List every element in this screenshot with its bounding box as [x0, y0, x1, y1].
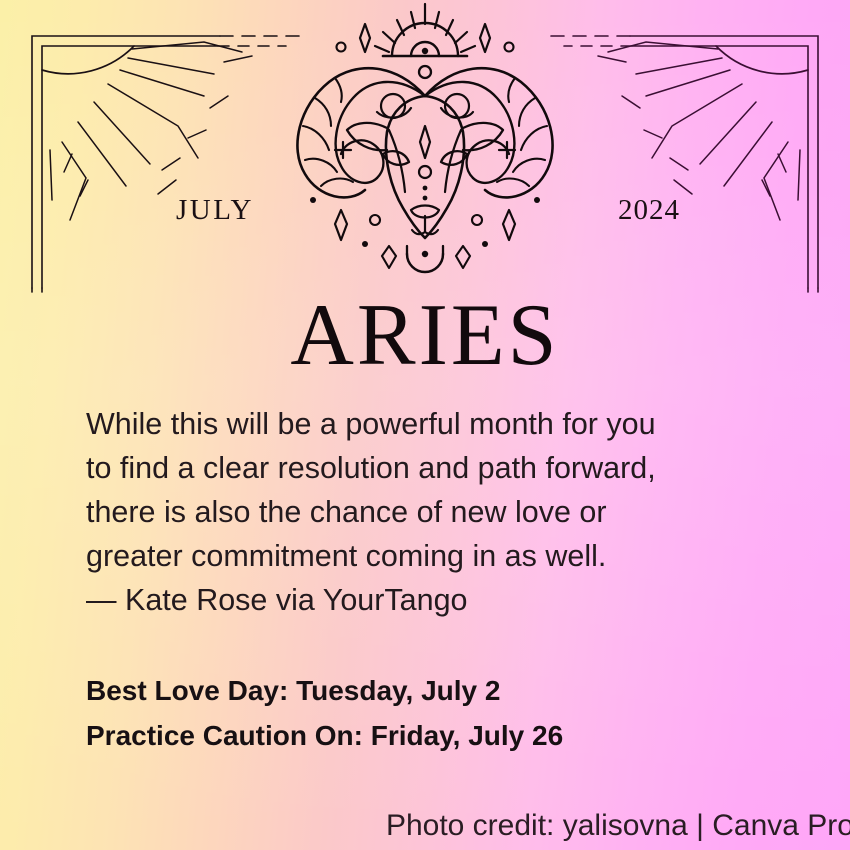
horoscope-line: there is also the chance of new love or: [86, 490, 776, 534]
photo-credit: Photo credit: yalisovna | Canva Pro: [386, 808, 850, 844]
practice-caution-day: Practice Caution On: Friday, July 26: [86, 713, 786, 758]
aries-ram-zodiac-emblem: [279, 2, 571, 290]
horoscope-line: While this will be a powerful month for …: [86, 402, 776, 446]
page-title: ARIES: [0, 292, 850, 380]
horoscope-line: greater commitment coming in as well.: [86, 534, 776, 578]
month-label: JULY: [176, 196, 254, 225]
attribution: — Kate Rose via YourTango: [86, 578, 776, 622]
corner-frame-left: [28, 30, 328, 292]
horoscope-line: to find a clear resolution and path forw…: [86, 446, 776, 490]
corner-frame-right: [522, 30, 822, 292]
year-label: 2024: [618, 196, 680, 225]
key-days: Best Love Day: Tuesday, July 2 Practice …: [86, 668, 786, 758]
horoscope-text: While this will be a powerful month for …: [86, 402, 776, 622]
best-love-day: Best Love Day: Tuesday, July 2: [86, 668, 786, 713]
horoscope-poster: JULY 2024 ARIES While this will be a pow…: [0, 0, 850, 850]
